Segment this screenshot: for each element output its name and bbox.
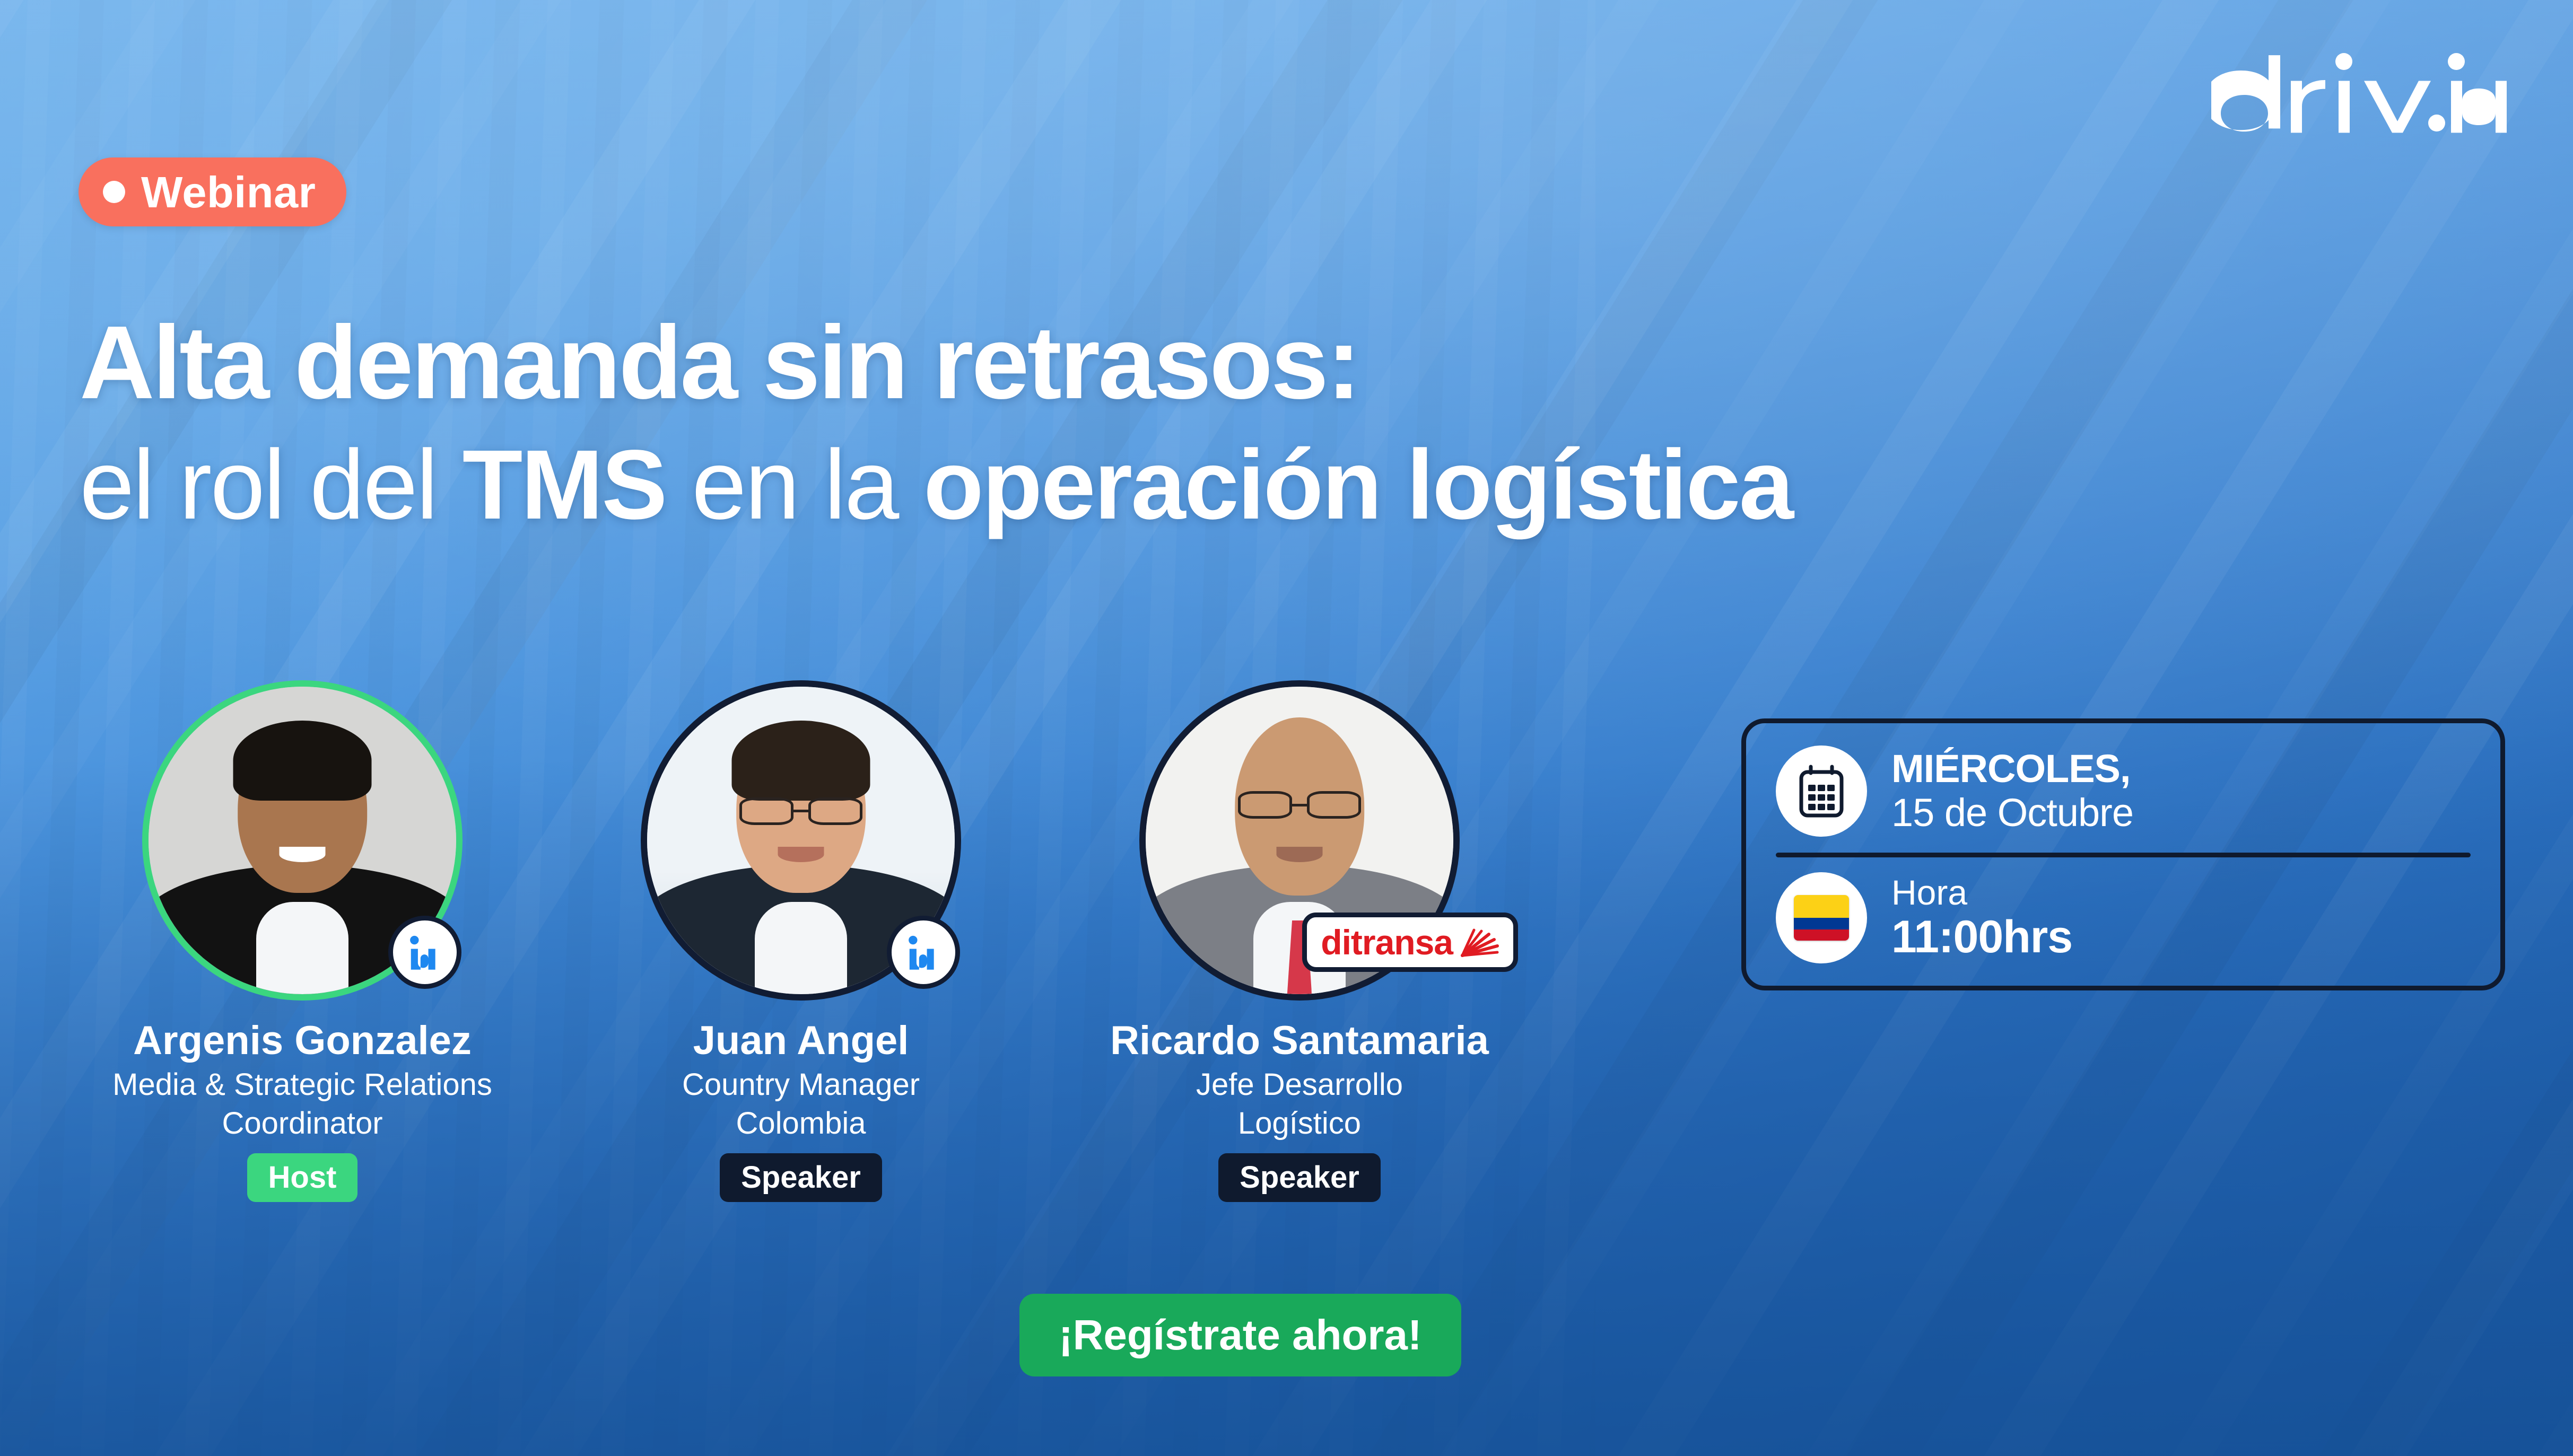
speaker-name: Argenis Gonzalez bbox=[133, 1020, 472, 1063]
ditransa-logo: ditransa bbox=[1302, 913, 1518, 972]
event-date-row: MIÉRCOLES, 15 de Octubre bbox=[1776, 745, 2471, 837]
speaker-role-line-1: Jefe Desarrollo bbox=[1196, 1068, 1403, 1102]
drivin-logo[interactable] bbox=[2211, 49, 2508, 160]
headline: Alta demanda sin retrasos: el rol del TM… bbox=[80, 308, 2403, 537]
drivin-wordmark-icon bbox=[2211, 49, 2508, 160]
headline-l2-d: operación logística bbox=[923, 430, 1792, 540]
headline-line-1: Alta demanda sin retrasos: bbox=[80, 308, 2403, 418]
event-time-row: Hora 11:00hrs bbox=[1776, 872, 2471, 963]
speaker-card-2: Juan Angel Country Manager Colombia Spea… bbox=[552, 687, 1050, 1202]
speaker-role-line-1: Media & Strategic Relations bbox=[112, 1068, 492, 1102]
speaker-role-line-2: Logístico bbox=[1238, 1107, 1361, 1141]
headline-line-2: el rol del TMS en la operación logística bbox=[80, 433, 2403, 537]
ditransa-burst-icon bbox=[1458, 926, 1499, 959]
drivin-in-icon bbox=[887, 916, 960, 989]
ditransa-label: ditransa bbox=[1321, 925, 1453, 960]
speaker-tag-host: Host bbox=[247, 1153, 358, 1202]
webinar-badge-label: Webinar bbox=[141, 170, 316, 214]
drivin-in-icon bbox=[388, 916, 461, 989]
speaker-role-line-2: Coordinator bbox=[222, 1107, 382, 1141]
card-divider bbox=[1776, 853, 2471, 857]
speaker-role-line-1: Country Manager bbox=[682, 1068, 920, 1102]
colombia-flag-icon bbox=[1776, 872, 1867, 963]
speaker-tag-speaker: Speaker bbox=[1218, 1153, 1381, 1202]
speaker-role-line-2: Colombia bbox=[736, 1107, 866, 1141]
webinar-badge: Webinar bbox=[79, 157, 346, 226]
event-time-label: Hora bbox=[1891, 873, 2072, 912]
event-time-value: 11:00hrs bbox=[1891, 912, 2072, 962]
event-details-card: MIÉRCOLES, 15 de Octubre Hora 11:00hrs bbox=[1741, 718, 2505, 990]
speaker-card-3: ditransa Ricardo Santamaria Jefe D bbox=[1050, 687, 1549, 1202]
speakers-row: Argenis Gonzalez Media & Strategic Relat… bbox=[53, 687, 1554, 1202]
headline-l2-a: el rol del bbox=[80, 430, 463, 540]
avatar-wrap-2 bbox=[647, 687, 955, 994]
event-date-weekday: MIÉRCOLES, bbox=[1891, 747, 2133, 791]
event-date-day: 15 de Octubre bbox=[1891, 791, 2133, 835]
dot-icon bbox=[103, 181, 125, 203]
speaker-card-1: Argenis Gonzalez Media & Strategic Relat… bbox=[53, 687, 552, 1202]
calendar-icon bbox=[1776, 745, 1867, 837]
headline-l2-tms: TMS bbox=[463, 430, 666, 540]
speaker-name: Ricardo Santamaria bbox=[1110, 1020, 1489, 1063]
speaker-name: Juan Angel bbox=[693, 1020, 909, 1063]
register-button[interactable]: ¡Regístrate ahora! bbox=[1019, 1294, 1461, 1376]
event-date-text: MIÉRCOLES, 15 de Octubre bbox=[1891, 747, 2133, 835]
avatar-wrap-1 bbox=[149, 687, 456, 994]
event-time-text: Hora 11:00hrs bbox=[1891, 873, 2072, 962]
speaker-tag-speaker: Speaker bbox=[720, 1153, 882, 1202]
avatar-wrap-3: ditransa bbox=[1146, 687, 1453, 994]
headline-l2-c: en la bbox=[666, 430, 923, 540]
